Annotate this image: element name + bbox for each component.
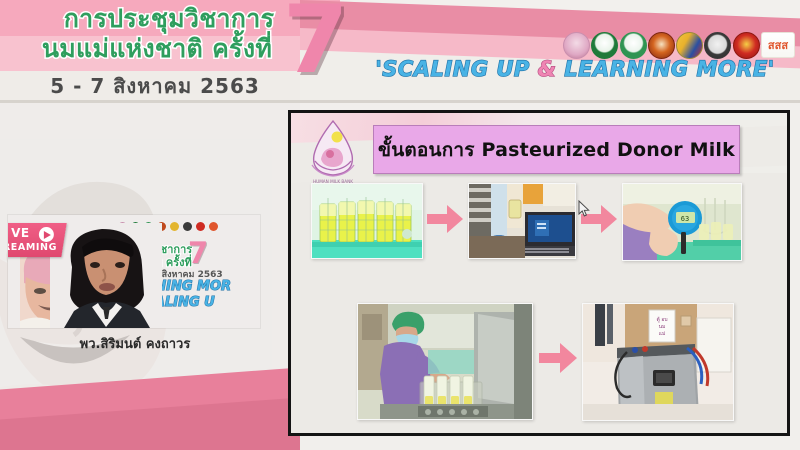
ministry-of-public-health-logo-icon (620, 32, 647, 59)
red-royal-emblem-icon (733, 32, 760, 59)
background-left-panel: ารประชุมวิชาการ มแม่แห่งชาติ ครั้งที่ 7 … (0, 103, 300, 450)
speaker-name-label: พว.สิริมนต์ คงถาวร (10, 333, 260, 354)
edition-number: 7 (283, 0, 348, 88)
sponsor-logo-row: สสส (563, 28, 795, 62)
live-streaming-badge: VE TREAMING (8, 223, 67, 257)
svg-text:ตู้ อบ: ตู้ อบ (656, 316, 667, 323)
poster-logo-6-icon (183, 222, 192, 231)
royal-patronage-emblem-icon (563, 32, 590, 59)
national-health-foundation-logo-icon (704, 32, 731, 59)
svg-text:นม: นม (659, 324, 666, 330)
svg-text:63: 63 (681, 215, 689, 223)
laptop-monitoring-photo (468, 183, 576, 259)
svg-text:แม่: แม่ (659, 331, 666, 337)
slide-title-text: ขั้นตอนการ Pasteurized Donor Milk (378, 135, 735, 165)
nurse-loading-bottles-photo (357, 303, 533, 420)
presentation-stage: การประชุมวิชาการ นมแม่แห่งชาติ ครั้งที่ … (0, 0, 800, 450)
poster-logo-5-icon (170, 222, 179, 231)
live-stream-video-thumbnail[interactable]: ารประชุมวิชาการ มแม่แห่งชาติ ครั้งที่ 7 … (8, 215, 260, 328)
slide-content-panel: HUMAN MILK BANK ขั้นตอนการ Pasteurized D… (288, 110, 790, 436)
conference-header-banner: การประชุมวิชาการ นมแม่แห่งชาติ ครั้งที่ … (0, 0, 800, 103)
thaihealth-sss-logo-icon: สสส (761, 32, 795, 58)
live-badge-label-bottom: TREAMING (8, 242, 57, 253)
conference-title-line2: นมแม่แห่งชาติ ครั้งที่ (12, 34, 302, 64)
thermometer-probe-photo: 63 (622, 183, 742, 261)
human-milk-bank-logo-icon: HUMAN MILK BANK (299, 117, 367, 187)
conference-date: 5 - 7 สิงหาคม 2563 (20, 70, 290, 102)
play-icon (39, 227, 54, 242)
mouse-pointer-icon (578, 200, 590, 217)
tagline-part-scaling-up: 'SCALING UP (375, 57, 537, 81)
poster-edition-number: 7 (188, 239, 208, 268)
flow-arrow-1-icon (427, 205, 463, 233)
thai-royal-crest-icon (676, 32, 703, 59)
slide-title-box: ขั้นตอนการ Pasteurized Donor Milk (373, 125, 740, 174)
flow-arrow-3-icon (539, 343, 577, 373)
pasteurizer-machine-photo: ตู้ อบ นม แม่ (582, 303, 734, 421)
conference-title-line1: การประชุมวิชาการ (24, 4, 314, 34)
milk-bottle-racks-photo (311, 183, 423, 259)
speaker-video-image (50, 223, 162, 328)
poster-logo-7-icon (196, 222, 205, 231)
poster-logo-8-icon (209, 222, 218, 231)
thai-breastfeeding-center-logo-icon (591, 32, 618, 59)
royal-college-emblem-icon (648, 32, 675, 59)
tagline-ampersand: & (538, 57, 557, 81)
live-badge-label-top: VE (11, 226, 29, 240)
